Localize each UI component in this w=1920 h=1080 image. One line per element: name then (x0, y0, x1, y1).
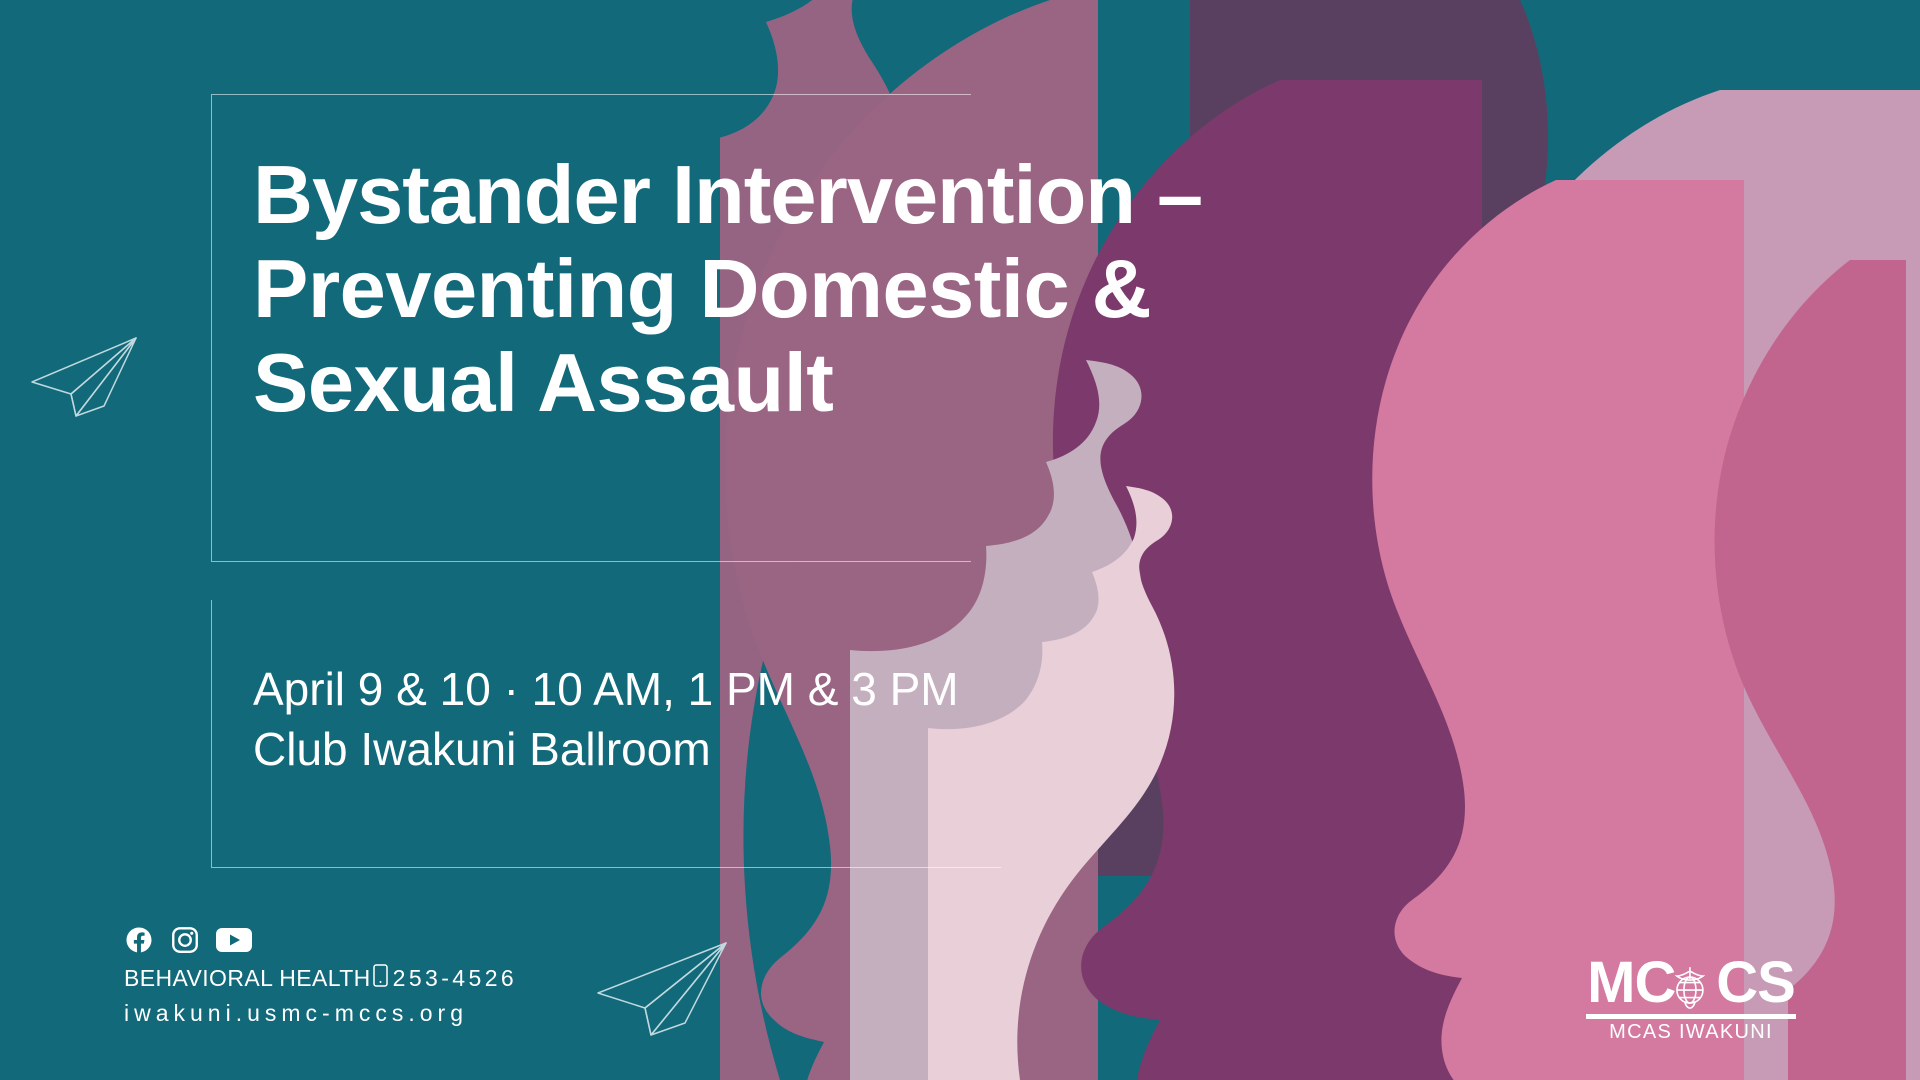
facebook-icon[interactable] (124, 925, 154, 955)
mccs-logo: MCCCS MCAS IWAKUNI (1586, 955, 1796, 1044)
eagle-globe-anchor-icon (1663, 957, 1717, 1011)
event-details: April 9 & 10 · 10 AM, 1 PM & 3 PM Club I… (253, 660, 959, 780)
paper-plane-icon (590, 935, 735, 1050)
event-location: Club Iwakuni Ballroom (253, 720, 959, 780)
mccs-wordmark: MCCCS (1586, 955, 1796, 1011)
page-title: Bystander Intervention – Preventing Dome… (253, 148, 1483, 429)
mobile-phone-icon (373, 964, 388, 993)
paper-plane-icon (24, 332, 144, 427)
website-url[interactable]: iwakuni.usmc-mccs.org (124, 1000, 517, 1027)
mccs-subtitle: MCAS IWAKUNI (1586, 1021, 1796, 1044)
headline-line-1: Bystander Intervention – (253, 148, 1483, 242)
poster-canvas: Bystander Intervention – Preventing Dome… (0, 0, 1920, 1080)
event-datetime: April 9 & 10 · 10 AM, 1 PM & 3 PM (253, 660, 959, 720)
phone-contact: BEHAVIORAL HEALTH 253-4526 (124, 964, 517, 993)
social-links (124, 925, 517, 955)
mccs-wordmark-right: CS (1716, 950, 1795, 1015)
footer-contact-block: BEHAVIORAL HEALTH 253-4526 iwakuni.usmc-… (124, 925, 517, 1027)
phone-number[interactable]: 253-4526 (393, 965, 517, 992)
headline-line-3: Sexual Assault (253, 336, 1483, 430)
headline-line-2: Preventing Domestic & (253, 242, 1483, 336)
youtube-icon[interactable] (216, 926, 252, 954)
instagram-icon[interactable] (170, 925, 200, 955)
phone-label: BEHAVIORAL HEALTH (124, 965, 371, 992)
